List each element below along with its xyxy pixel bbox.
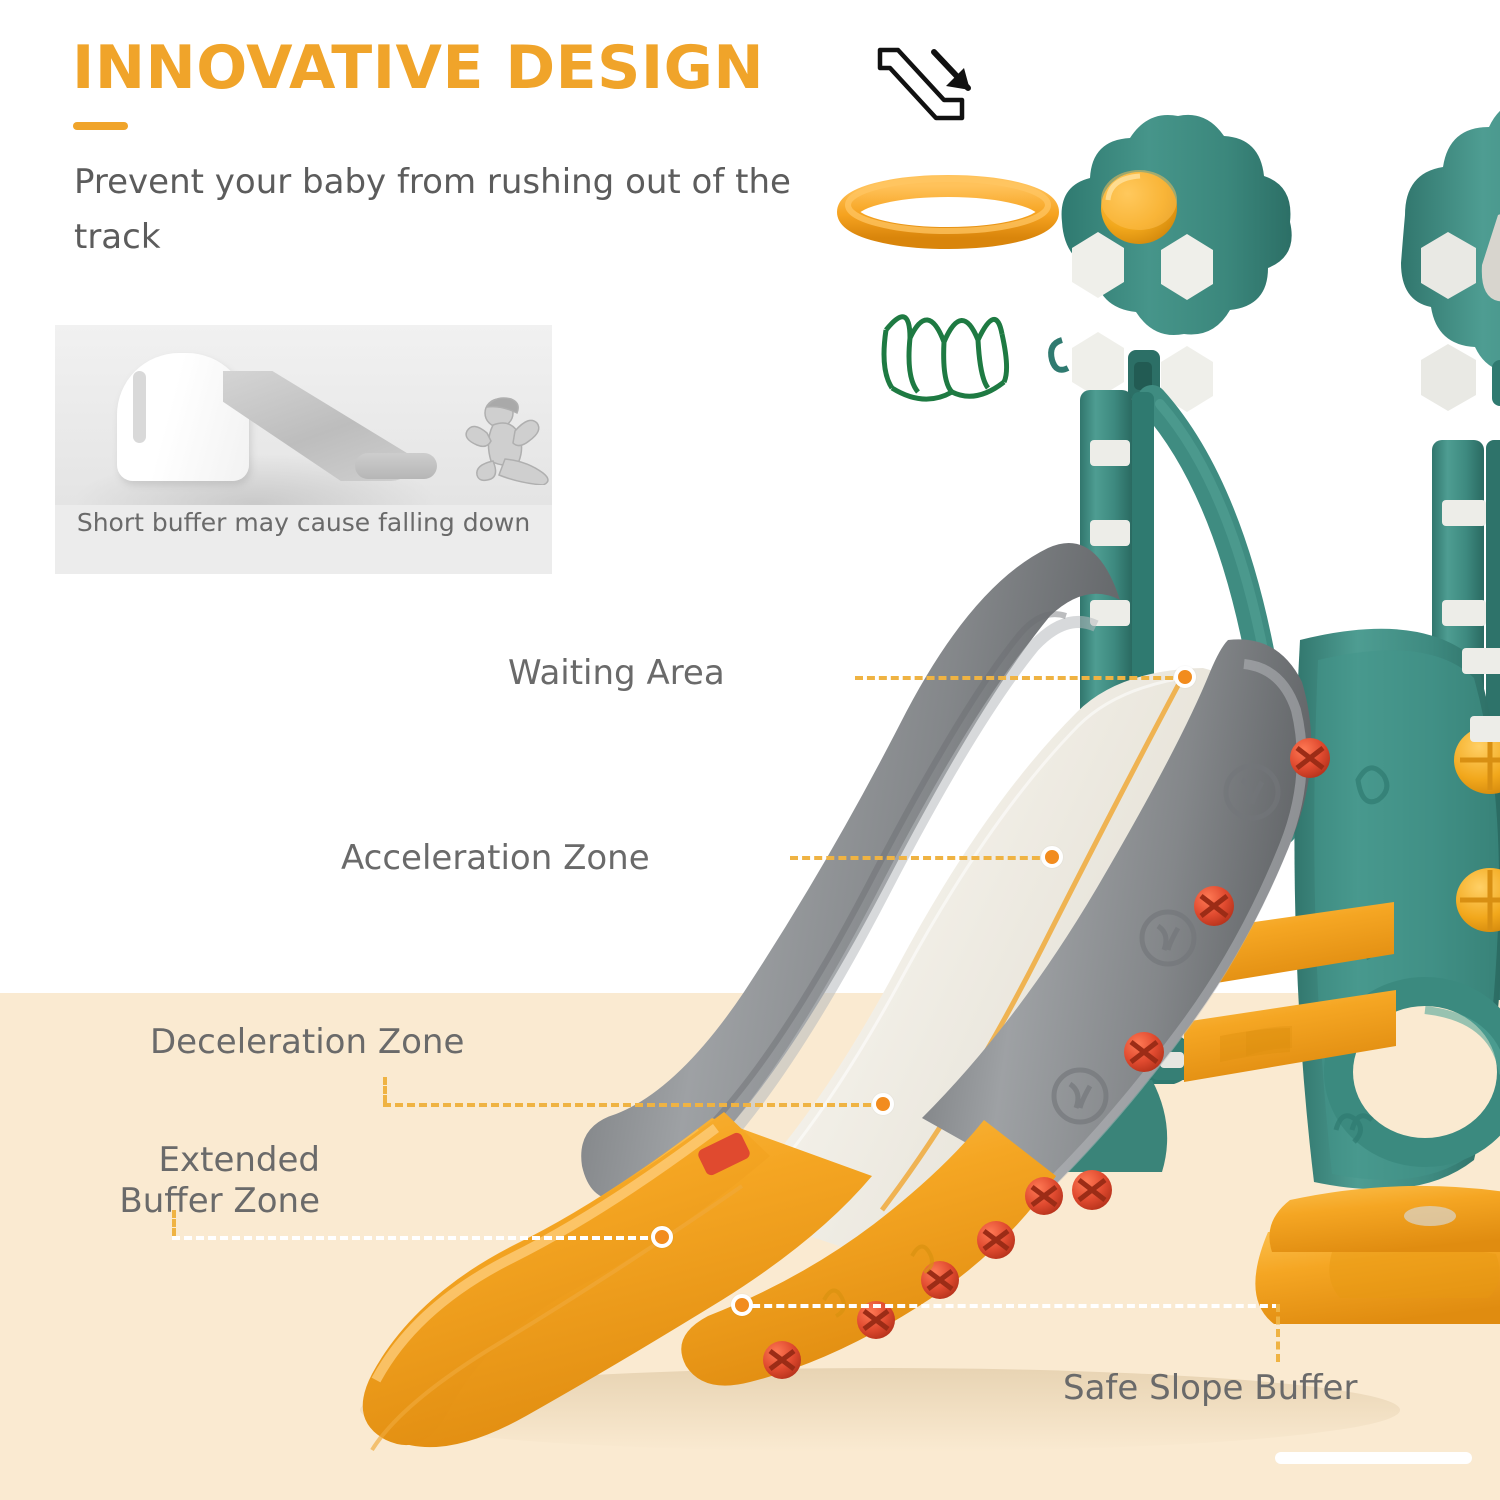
page-title: INNOVATIVE DESIGN	[72, 38, 764, 98]
connector-line-extended-buffer-zone	[172, 1236, 672, 1240]
callout-label-deceleration-zone: Deceleration Zone	[150, 1022, 464, 1063]
connector-dot-extended-buffer-zone	[651, 1226, 673, 1248]
callout-label-waiting-area: Waiting Area	[508, 653, 725, 694]
falling-child-icon	[453, 393, 552, 485]
page-subtitle: Prevent your baby from rushing out of th…	[74, 155, 834, 265]
bottom-white-bar	[1275, 1452, 1472, 1464]
connector-dot-waiting-area	[1174, 666, 1196, 688]
connector-elbow-extended-buffer-zone	[172, 1210, 176, 1236]
slide-down-arrow-icon	[876, 44, 981, 139]
extended-buffer-line-1: Extended	[159, 1140, 320, 1180]
connector-elbow-safe-slope-buffer	[1276, 1304, 1280, 1362]
connector-line-deceleration-zone	[383, 1103, 883, 1107]
connector-dot-acceleration-zone	[1041, 846, 1063, 868]
inset-caption: Short buffer may cause falling down	[55, 508, 552, 538]
mini-slide-lip-icon	[355, 453, 437, 479]
callout-label-acceleration-zone: Acceleration Zone	[341, 838, 650, 879]
background-beige-section	[0, 993, 1500, 1500]
infographic-canvas: INNOVATIVE DESIGN Prevent your baby from…	[0, 0, 1500, 1500]
callout-label-safe-slope-buffer: Safe Slope Buffer	[1063, 1368, 1357, 1409]
connector-line-waiting-area	[855, 676, 1185, 680]
connector-dot-safe-slope-buffer	[731, 1294, 753, 1316]
extended-buffer-line-2: Buffer Zone	[119, 1181, 320, 1221]
connector-dot-deceleration-zone	[872, 1093, 894, 1115]
connector-elbow-deceleration-zone	[383, 1077, 387, 1103]
inset-photo	[55, 325, 552, 505]
connector-line-safe-slope-buffer	[740, 1304, 1280, 1308]
connector-line-acceleration-zone	[790, 856, 1052, 860]
warning-inset-card: Short buffer may cause falling down	[55, 325, 552, 574]
title-underline-rule	[73, 122, 128, 130]
